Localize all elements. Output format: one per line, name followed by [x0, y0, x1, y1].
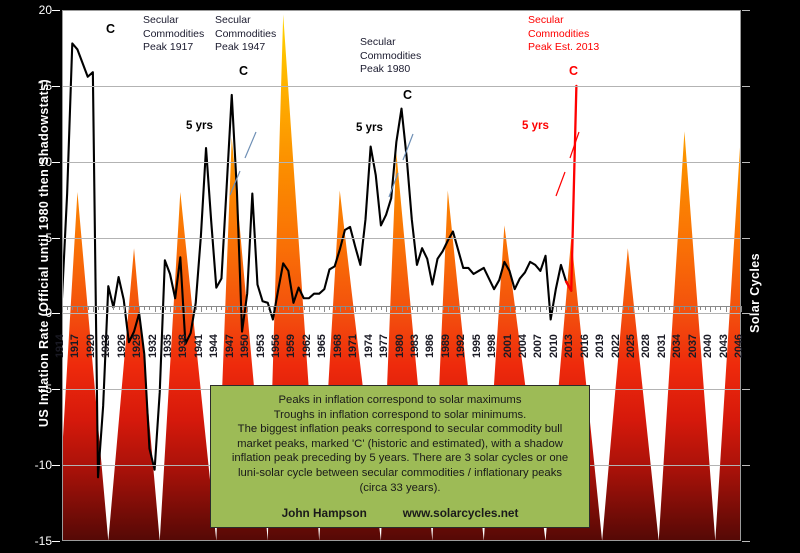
right-tick-15: [742, 86, 750, 87]
chart-root: US Inflation Rate (Official until 1980 t…: [0, 0, 800, 553]
x-label-1965: 1965: [316, 334, 328, 358]
y-tick-10: 10: [39, 155, 52, 169]
x-label-1932: 1932: [147, 334, 159, 358]
x-label-1956: 1956: [270, 334, 282, 358]
gridline-10: [62, 162, 741, 163]
x-label-2037: 2037: [687, 334, 699, 358]
x-label-2007: 2007: [532, 334, 544, 358]
x-label-1983: 1983: [409, 334, 421, 358]
gridline-15: [62, 86, 741, 87]
leader-line-2: [230, 171, 240, 195]
x-label-1923: 1923: [100, 334, 112, 358]
x-label-1944: 1944: [208, 334, 220, 358]
x-label-2040: 2040: [702, 334, 714, 358]
y-tick--15: -15: [35, 534, 52, 548]
x-label-2004: 2004: [517, 334, 529, 358]
x-label-2010: 2010: [548, 334, 560, 358]
y-tick--5: -5: [41, 382, 52, 396]
leader-line-4: [389, 173, 398, 197]
right-tick--10: [742, 465, 750, 466]
x-label-1974: 1974: [363, 334, 375, 358]
x-label-1920: 1920: [85, 334, 97, 358]
right-axis-title: Solar Cycles: [748, 168, 762, 418]
legend-note-box: Peaks in inflation correspond to solar m…: [210, 385, 590, 528]
x-label-2031: 2031: [656, 334, 668, 358]
gridline-5: [62, 238, 741, 239]
right-tick-10: [742, 162, 750, 163]
x-label-1929: 1929: [131, 334, 143, 358]
right-tick-20: [742, 10, 750, 11]
leader-line-1: [245, 132, 256, 158]
x-label-2022: 2022: [610, 334, 622, 358]
x-label-1941: 1941: [193, 334, 205, 358]
x-label-1980: 1980: [394, 334, 406, 358]
x-label-1953: 1953: [255, 334, 267, 358]
x-axis-line: [62, 306, 741, 307]
x-label-1938: 1938: [177, 334, 189, 358]
c-marker-2013: C: [569, 64, 578, 78]
x-label-1995: 1995: [471, 334, 483, 358]
website-link[interactable]: www.solarcycles.net: [403, 506, 519, 520]
x-label-1935: 1935: [162, 334, 174, 358]
label-5yrs-2: 5 yrs: [356, 122, 383, 134]
x-label-2046: 2046: [733, 334, 745, 358]
c-marker-1980: C: [403, 88, 412, 102]
right-tick--15: [742, 541, 750, 542]
y-tick-mark-15: [52, 86, 60, 87]
x-label-1962: 1962: [301, 334, 313, 358]
c-marker-1947: C: [239, 64, 248, 78]
x-label-2016: 2016: [579, 334, 591, 358]
x-label-1926: 1926: [116, 334, 128, 358]
x-label-1989: 1989: [440, 334, 452, 358]
x-label-2019: 2019: [594, 334, 606, 358]
annotation-peak-1947: Secular Commodities Peak 1947: [215, 14, 276, 55]
y-tick-mark-10: [52, 162, 60, 163]
leader-line-3: [403, 134, 413, 160]
x-axis-tick-labels: 1914191719201923192619291932193519381941…: [62, 312, 741, 358]
x-label-1992: 1992: [455, 334, 467, 358]
label-5yrs-1: 5 yrs: [186, 120, 213, 132]
x-label-1950: 1950: [239, 334, 251, 358]
x-label-1968: 1968: [332, 334, 344, 358]
x-label-1986: 1986: [424, 334, 436, 358]
x-tick-2046: [741, 306, 742, 312]
author-name: John Hampson: [282, 506, 367, 520]
y-tick-mark-0: [52, 313, 60, 314]
leader-line-6: [556, 172, 565, 196]
label-5yrs-3: 5 yrs: [522, 120, 549, 132]
x-label-1959: 1959: [285, 334, 297, 358]
y-tick-mark--10: [52, 465, 60, 466]
x-label-2043: 2043: [718, 334, 730, 358]
annotation-peak-2013: Secular Commodities Peak Est. 2013: [528, 14, 599, 55]
x-label-2025: 2025: [625, 334, 637, 358]
x-label-2013: 2013: [563, 334, 575, 358]
annotation-peak-1917: Secular Commodities Peak 1917: [143, 14, 204, 55]
y-tick-mark--5: [52, 389, 60, 390]
legend-note-text: Peaks in inflation correspond to solar m…: [217, 393, 583, 495]
y-tick-mark-5: [52, 238, 60, 239]
y-tick--10: -10: [35, 458, 52, 472]
x-label-2034: 2034: [671, 334, 683, 358]
leader-line-5: [570, 132, 579, 158]
x-label-1977: 1977: [378, 334, 390, 358]
y-tick-5: 5: [45, 231, 52, 245]
y-axis-tick-labels: 20151050-5-10-15: [0, 0, 52, 553]
x-label-2028: 2028: [640, 334, 652, 358]
annotation-peak-1980: Secular Commodities Peak 1980: [360, 36, 421, 77]
y-tick-mark-20: [52, 10, 60, 11]
c-marker-1917: C: [106, 22, 115, 36]
y-tick-0: 0: [45, 306, 52, 320]
x-label-1947: 1947: [224, 334, 236, 358]
legend-credit: John Hampsonwww.solarcycles.net: [217, 506, 583, 521]
x-label-1998: 1998: [486, 334, 498, 358]
y-tick-15: 15: [39, 79, 52, 93]
x-label-2001: 2001: [502, 334, 514, 358]
x-label-1917: 1917: [69, 334, 81, 358]
y-tick-20: 20: [39, 3, 52, 17]
x-label-1914: 1914: [54, 334, 66, 358]
x-label-1971: 1971: [347, 334, 359, 358]
y-tick-mark--15: [52, 541, 60, 542]
